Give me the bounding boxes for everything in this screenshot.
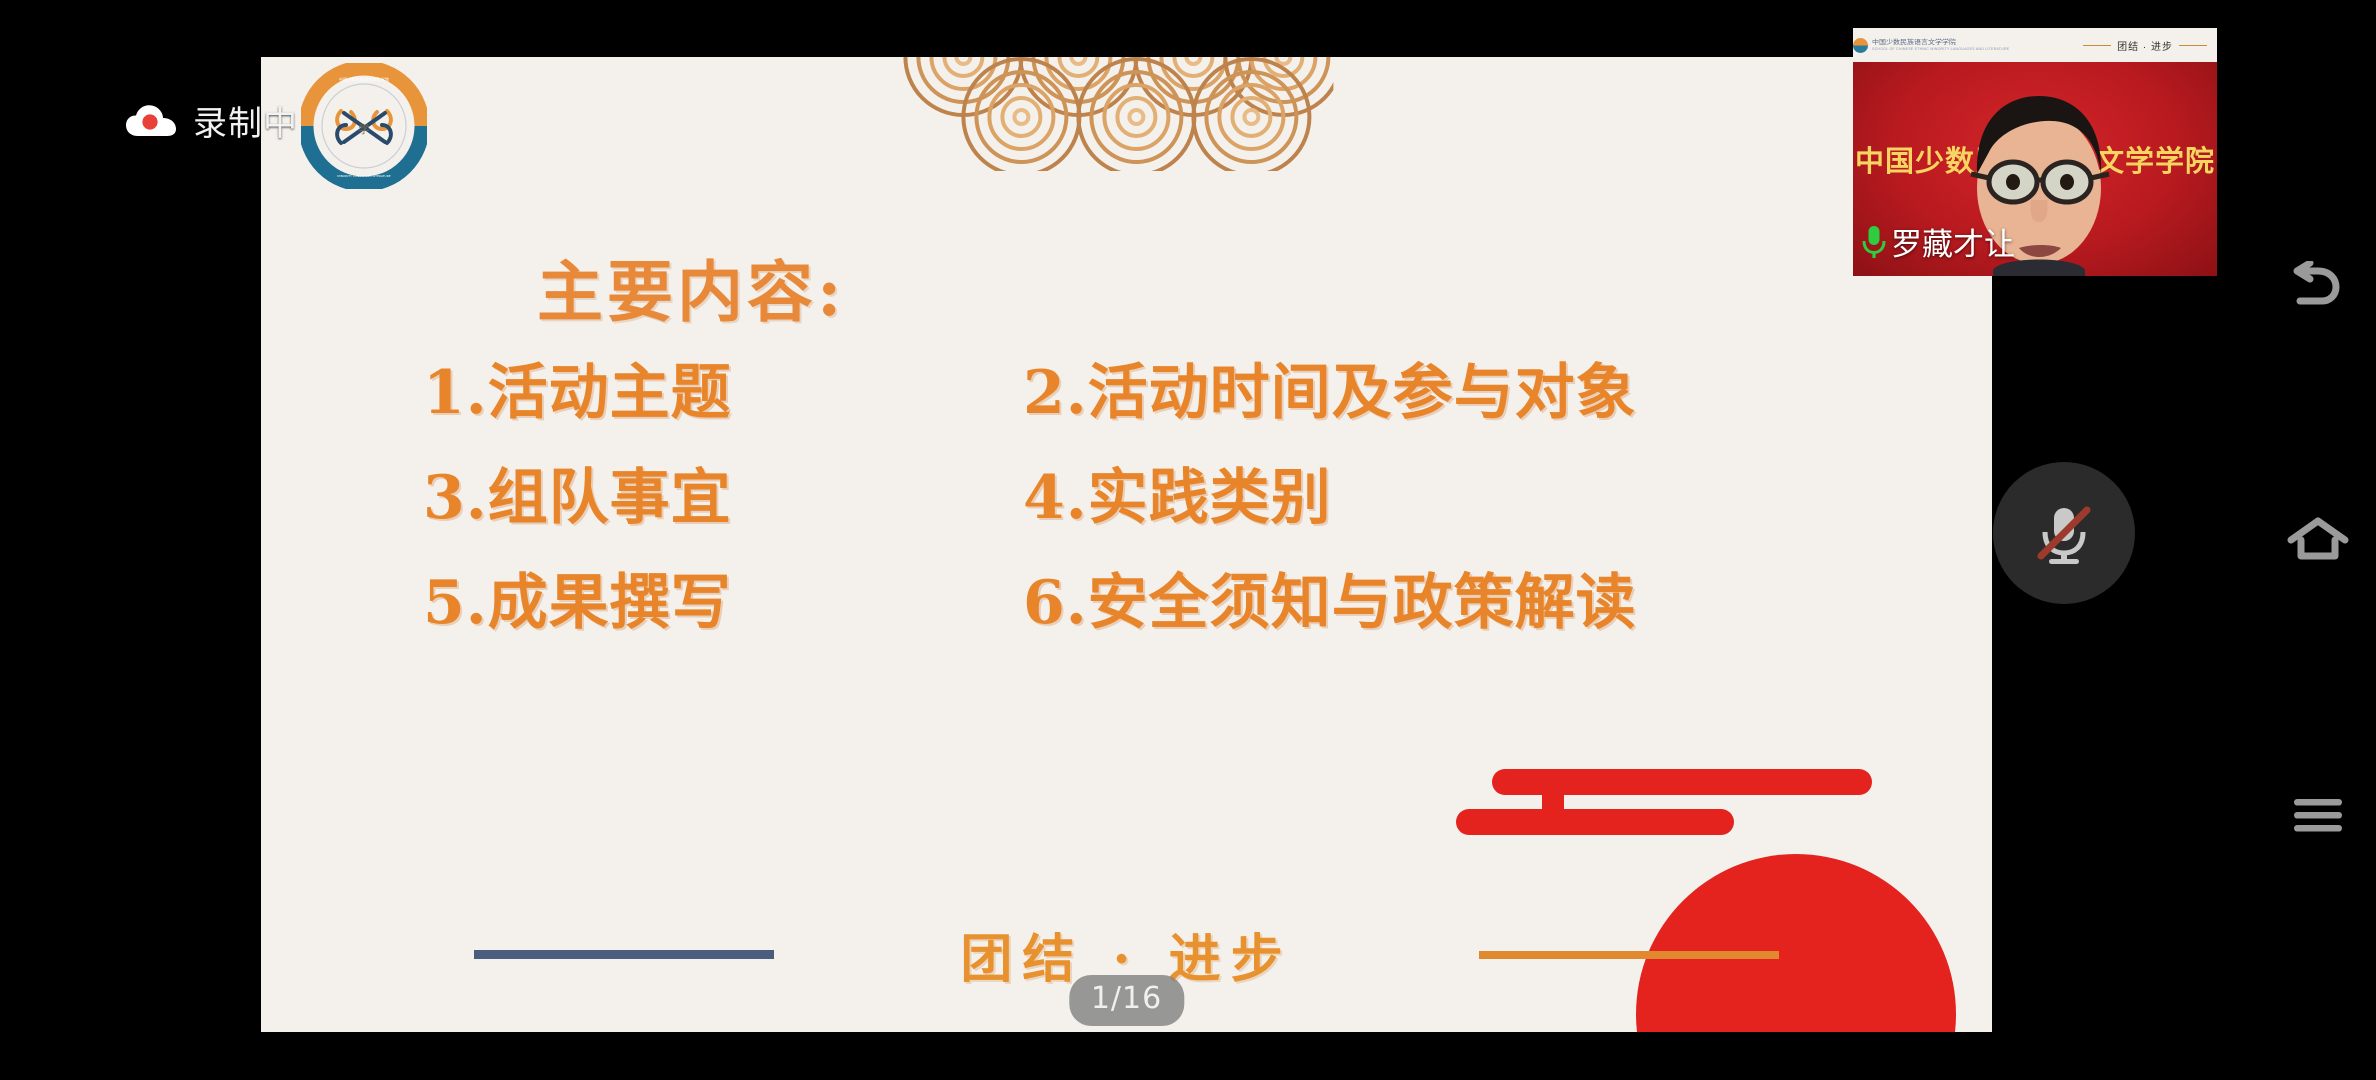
svg-text:学: 学	[359, 122, 370, 136]
mini-college-name-sub: SCHOOL OF CHINESE ETHNIC MINORITY LANGUA…	[1872, 47, 2009, 51]
back-arrow-icon	[2288, 261, 2348, 309]
chinese-cloud-pattern-decoration	[903, 57, 1333, 171]
cloud-record-icon	[125, 103, 177, 139]
mini-motto: 团结 · 进步	[2117, 38, 2173, 53]
mute-toggle-button[interactable]	[1993, 462, 2135, 604]
mini-college-name: 中国少数民族语言文学学院	[1872, 39, 2009, 47]
menu-button[interactable]	[2283, 780, 2353, 850]
mini-rule-right	[2179, 45, 2207, 46]
footer-rule-left	[474, 950, 774, 959]
slide-heading: 主要内容:	[285, 239, 1992, 335]
red-bar-decoration-bottom	[1456, 809, 1734, 835]
slide-topic-list: 1.活动主题 2.活动时间及参与对象 3.组队事宜 4.实践类别 5.成果撰写 …	[261, 357, 1992, 641]
topic-item-5: 5.成果撰写	[423, 567, 1023, 640]
mini-college-text-group: 中国少数民族语言文学学院 SCHOOL OF CHINESE ETHNIC MI…	[1872, 39, 2009, 52]
presenter-video-tile[interactable]: 中国少数民族语言文学学院 SCHOOL OF CHINESE ETHNIC MI…	[1853, 28, 2217, 276]
topic-item-4: 4.实践类别	[1023, 462, 1906, 535]
topic-item-1: 1.活动主题	[423, 357, 1023, 430]
topic-item-3: 3.组队事宜	[423, 462, 1023, 535]
menu-icon	[2292, 795, 2344, 835]
mini-motto-group: 团结 · 进步	[2083, 38, 2207, 53]
college-seal-logo: 学 中国少数民族语言文学学院 MINORITY LANGUAGES LITERA…	[301, 63, 427, 189]
system-navigation-rail	[2260, 0, 2376, 1080]
mini-college-logo-group: 中国少数民族语言文学学院 SCHOOL OF CHINESE ETHNIC MI…	[1859, 38, 2009, 53]
svg-text:中国少数民族语言文学学院: 中国少数民族语言文学学院	[339, 76, 390, 83]
page-indicator: 1/16	[1069, 975, 1184, 1026]
presenter-name-row: 罗藏才让	[1861, 219, 2015, 264]
presentation-slide[interactable]: 学 中国少数民族语言文学学院 MINORITY LANGUAGES LITERA…	[261, 57, 1992, 1032]
footer-rule-right	[1479, 951, 1779, 959]
microphone-muted-icon	[2027, 496, 2101, 570]
presenter-name: 罗藏才让	[1891, 219, 2015, 264]
recording-indicator: 录制中	[125, 96, 298, 145]
topic-item-2: 2.活动时间及参与对象	[1023, 357, 1906, 430]
back-button[interactable]	[2283, 250, 2353, 320]
mini-college-seal-icon	[1853, 38, 1868, 53]
home-button[interactable]	[2283, 505, 2353, 575]
home-icon	[2287, 516, 2349, 564]
microphone-on-icon	[1861, 225, 1887, 259]
presenter-minislide-header: 中国少数民族语言文学学院 SCHOOL OF CHINESE ETHNIC MI…	[1853, 28, 2217, 62]
svg-text:MINORITY LANGUAGES LITERATURE: MINORITY LANGUAGES LITERATURE	[337, 174, 390, 178]
recording-label: 录制中	[193, 96, 298, 145]
mini-rule-left	[2083, 45, 2111, 46]
topic-item-6: 6.安全须知与政策解读	[1023, 567, 1906, 640]
